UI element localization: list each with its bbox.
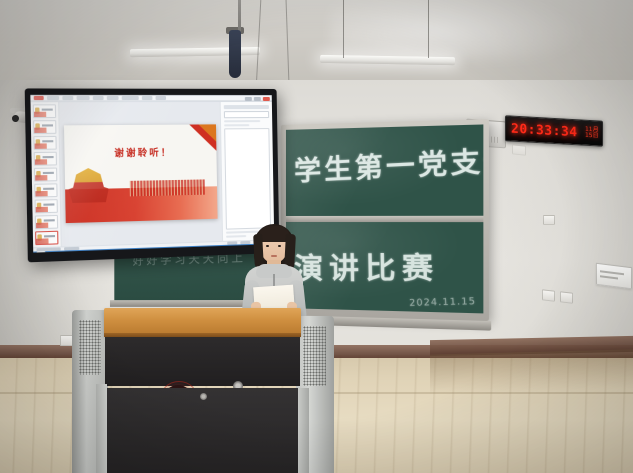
tab-animations[interactable] xyxy=(107,96,119,100)
wall-outlet[interactable] xyxy=(542,289,555,301)
tab-transitions[interactable] xyxy=(93,96,104,100)
window-minimize-icon[interactable] xyxy=(245,96,252,100)
slide-title-text: 谢谢聆听！ xyxy=(114,146,172,160)
slide-thumbnail-active[interactable] xyxy=(35,231,58,245)
slide-thumbnail[interactable] xyxy=(33,104,56,118)
slide-thumbnail[interactable] xyxy=(33,120,56,134)
start-button-icon[interactable] xyxy=(37,251,46,252)
slide-crowd-graphic xyxy=(130,179,205,196)
tab-review[interactable] xyxy=(142,96,153,100)
led-wall-clock: 20:33:34 11月15日 xyxy=(505,115,603,146)
slide-canvas[interactable]: 谢谢聆听！ xyxy=(59,102,222,246)
taskbar-item-powerpoint[interactable] xyxy=(76,250,100,253)
wall-plate xyxy=(512,144,526,155)
slide-thumbnail[interactable] xyxy=(34,199,57,213)
mouth xyxy=(271,255,277,257)
notes-line xyxy=(224,120,260,122)
lectern[interactable]: I N N E R M O N G O L I A 内蒙古科技大学 INNER … xyxy=(72,300,334,473)
slide-thumbnail[interactable] xyxy=(35,215,58,229)
hair-left xyxy=(253,234,264,268)
floor-shadow-right xyxy=(430,349,633,394)
light-hanger-wire xyxy=(343,0,344,58)
clock-date-line1: 11月15日 xyxy=(582,127,602,140)
blackboard-date: 2024.11.15 xyxy=(410,297,477,309)
current-slide[interactable]: 谢谢聆听！ xyxy=(64,124,218,223)
eye-left xyxy=(266,245,269,247)
slide-thumbnail[interactable] xyxy=(34,183,57,197)
eye-right xyxy=(278,245,281,247)
slide-thumbnail[interactable] xyxy=(34,152,57,166)
notes-header xyxy=(224,105,269,109)
classroom-photo: 20:33:34 11月15日 好好学习天天向上 学生第一党支部 演讲比赛 20… xyxy=(0,0,633,473)
lectern-wood-top[interactable] xyxy=(104,308,301,335)
slide-thumbnail[interactable] xyxy=(34,168,57,182)
window-close-icon[interactable] xyxy=(263,96,270,100)
tab-design[interactable] xyxy=(77,96,90,100)
lectern-rail-right xyxy=(298,388,309,473)
taskbar-item-explorer[interactable] xyxy=(49,251,73,253)
projector-icon xyxy=(229,30,241,78)
tab-file[interactable] xyxy=(34,96,44,100)
notes-line xyxy=(224,124,249,126)
slide-corner-decor-gold xyxy=(199,124,217,141)
tab-home[interactable] xyxy=(47,96,59,100)
wall-notice-sign xyxy=(596,263,632,289)
notes-panel[interactable] xyxy=(220,102,275,241)
blackboard-heading: 学生第一党支部 xyxy=(293,137,483,189)
notes-textarea[interactable] xyxy=(224,128,271,230)
wall-switch[interactable] xyxy=(543,215,555,225)
tab-slideshow[interactable] xyxy=(122,96,139,100)
tab-view[interactable] xyxy=(156,96,167,100)
window-maximize-icon[interactable] xyxy=(254,96,261,100)
lectern-lock-icon[interactable] xyxy=(200,393,207,400)
slide-thumbnail-panel[interactable] xyxy=(30,102,61,247)
lectern-lower-cabinet[interactable] xyxy=(105,388,300,473)
speaker-grill-right xyxy=(303,326,326,386)
lectern-rail-left xyxy=(96,384,107,473)
ppt-title-bar xyxy=(30,95,271,96)
projector-stem xyxy=(238,0,241,32)
light-hanger-wire xyxy=(428,0,429,58)
notes-search-input[interactable] xyxy=(224,111,269,118)
clock-time: 20:33:34 xyxy=(511,121,578,140)
slide-tiananmen-graphic xyxy=(68,168,109,204)
wall-outlet[interactable] xyxy=(560,291,573,303)
lectern-front-panel: I N N E R M O N G O L I A 内蒙古科技大学 INNER … xyxy=(105,337,300,386)
blackboard-upper-panel: 学生第一党支部 xyxy=(286,124,483,216)
slide-thumbnail[interactable] xyxy=(33,136,56,150)
ceiling-glare xyxy=(330,0,590,60)
tab-insert[interactable] xyxy=(62,96,73,100)
speaker-grill-left xyxy=(79,320,101,375)
